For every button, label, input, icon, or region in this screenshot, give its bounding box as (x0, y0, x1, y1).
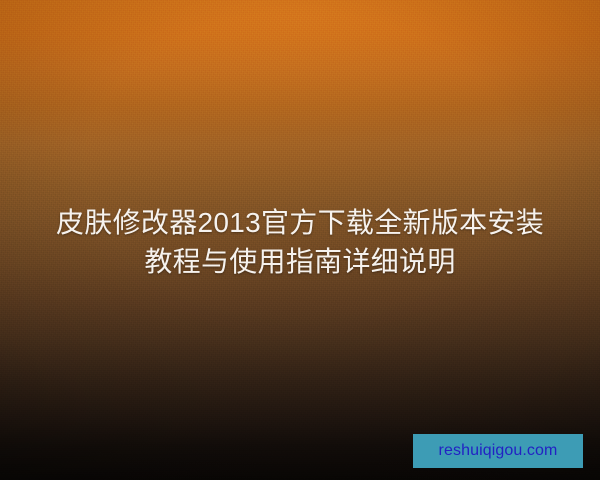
banner-headline: 皮肤修改器2013官方下载全新版本安装 教程与使用指南详细说明 (0, 203, 600, 281)
watermark-badge: reshuiqigou.com (413, 434, 583, 468)
watermark-label: reshuiqigou.com (439, 443, 558, 459)
banner-image: 皮肤修改器2013官方下载全新版本安装 教程与使用指南详细说明 reshuiqi… (0, 0, 600, 480)
